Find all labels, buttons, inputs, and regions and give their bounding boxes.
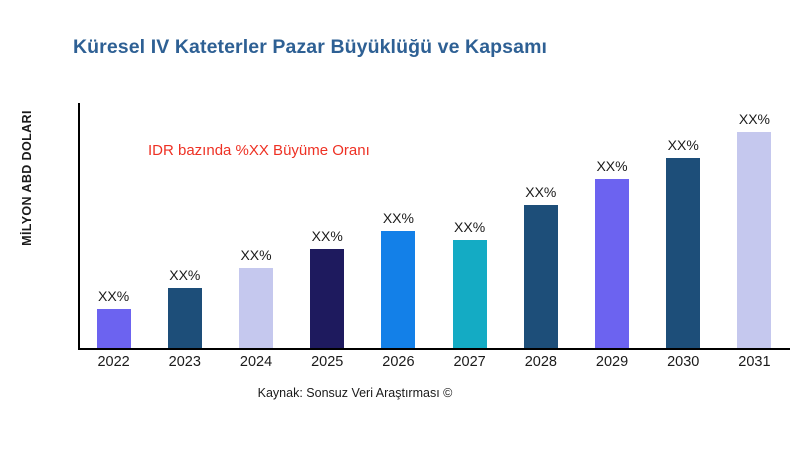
bar-2026[interactable]	[381, 231, 415, 348]
bar-group: XX%	[292, 103, 363, 348]
bar-group: XX%	[220, 103, 291, 348]
x-axis-line	[78, 348, 790, 350]
source-note: Kaynak: Sonsuz Veri Araştırması ©	[0, 386, 710, 400]
y-axis-title: MİLYON ABD DOLARI	[20, 110, 34, 246]
growth-rate-annotation: IDR bazında %XX Büyüme Oranı	[148, 142, 370, 159]
bar-group: XX%	[719, 103, 790, 348]
x-tick-2022: 2022	[78, 354, 149, 378]
bar-2031[interactable]	[737, 132, 771, 349]
x-tick-2025: 2025	[292, 354, 363, 378]
x-tick-2030: 2030	[648, 354, 719, 378]
bar-group: XX%	[149, 103, 220, 348]
x-tick-2028: 2028	[505, 354, 576, 378]
chart-container: Küresel IV Kateterler Pazar Büyüklüğü ve…	[0, 0, 800, 450]
bar-group: XX%	[78, 103, 149, 348]
bar-2027[interactable]	[453, 240, 487, 348]
bar-2029[interactable]	[595, 179, 629, 348]
bar-group: XX%	[363, 103, 434, 348]
x-tick-2023: 2023	[149, 354, 220, 378]
x-tick-2031: 2031	[719, 354, 790, 378]
bar-group: XX%	[505, 103, 576, 348]
bar-value-label: XX%	[312, 229, 343, 249]
bar-series: XX%XX%XX%XX%XX%XX%XX%XX%XX%XX%	[78, 103, 790, 348]
x-tick-2029: 2029	[576, 354, 647, 378]
bar-value-label: XX%	[525, 185, 556, 205]
bar-group: XX%	[576, 103, 647, 348]
bar-group: XX%	[648, 103, 719, 348]
bar-2030[interactable]	[666, 158, 700, 349]
bar-value-label: XX%	[383, 211, 414, 231]
bar-2025[interactable]	[310, 249, 344, 349]
bar-value-label: XX%	[596, 159, 627, 179]
bar-2022[interactable]	[97, 309, 131, 348]
bar-2023[interactable]	[168, 288, 202, 349]
plot-area: XX%XX%XX%XX%XX%XX%XX%XX%XX%XX%	[78, 103, 790, 350]
bar-value-label: XX%	[454, 220, 485, 240]
chart-title: Küresel IV Kateterler Pazar Büyüklüğü ve…	[0, 36, 620, 59]
bar-group: XX%	[434, 103, 505, 348]
bar-value-label: XX%	[169, 268, 200, 288]
bar-2024[interactable]	[239, 268, 273, 348]
y-axis-title-wrapper: MİLYON ABD DOLARI	[14, 60, 40, 295]
x-tick-2027: 2027	[434, 354, 505, 378]
x-tick-2026: 2026	[363, 354, 434, 378]
x-axis-tick-labels: 2022202320242025202620272028202920302031	[78, 354, 790, 378]
bar-value-label: XX%	[739, 112, 770, 132]
x-tick-2024: 2024	[220, 354, 291, 378]
bar-value-label: XX%	[240, 248, 271, 268]
bar-value-label: XX%	[668, 138, 699, 158]
bar-value-label: XX%	[98, 289, 129, 309]
bar-2028[interactable]	[524, 205, 558, 348]
